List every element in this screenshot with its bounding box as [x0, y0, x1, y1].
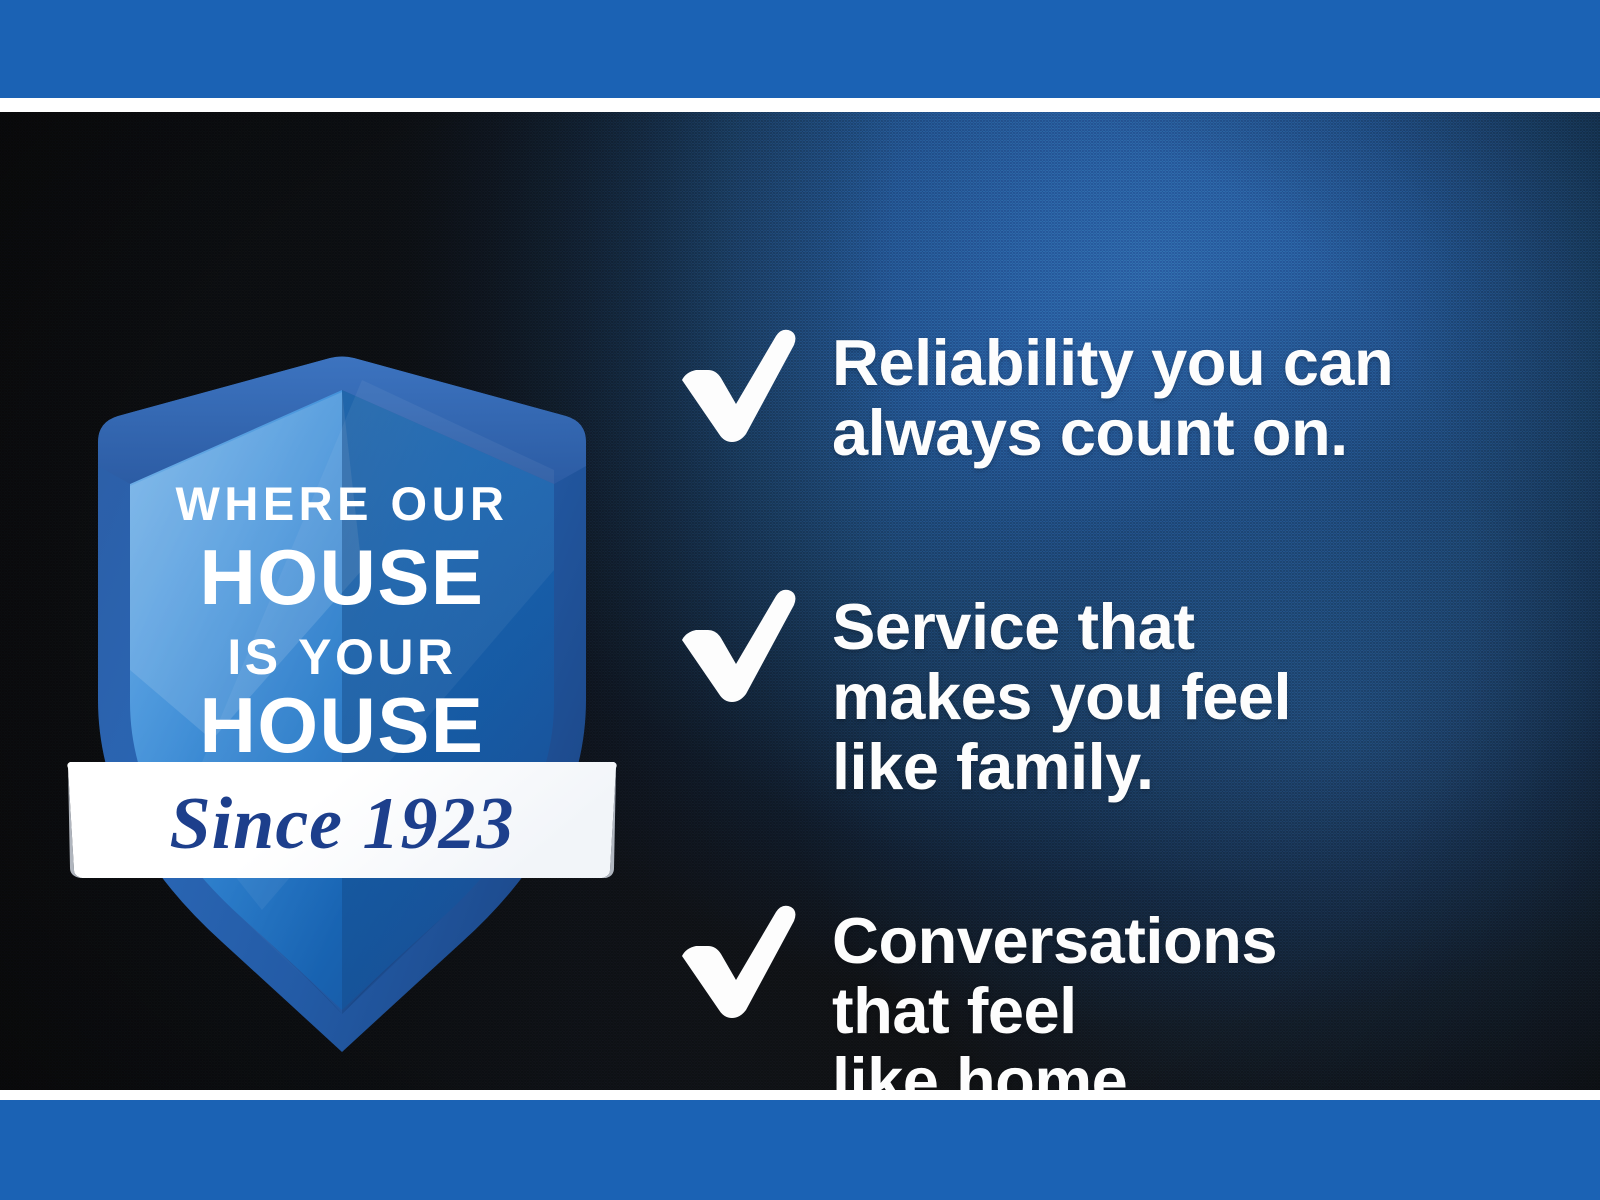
benefits-list: Reliability you can always count on. Ser…	[672, 302, 1552, 1090]
shield-line-3: IS YOUR	[227, 629, 456, 685]
benefit-item: Service that makes you feel like family.	[672, 584, 1291, 803]
benefit-item: Reliability you can always count on.	[672, 324, 1393, 468]
top-brand-bar	[0, 0, 1600, 98]
shield-line-2: HOUSE	[200, 533, 485, 621]
shield-logo-svg: WHERE OUR HOUSE IS YOUR HOUSE Since 1923	[62, 270, 622, 920]
benefit-text: Conversations that feel like home.	[832, 900, 1277, 1090]
benefit-text: Service that makes you feel like family.	[832, 584, 1291, 803]
checkmark-icon	[672, 324, 798, 442]
shield-line-1: WHERE OUR	[176, 477, 509, 530]
since-banner-text: Since 1923	[169, 783, 514, 865]
checkmark-icon	[672, 584, 798, 702]
benefit-text: Reliability you can always count on.	[832, 324, 1393, 468]
checkmark-icon	[672, 900, 798, 1018]
shield-line-4: HOUSE	[200, 681, 485, 769]
since-banner: Since 1923	[67, 762, 616, 878]
shield-logo: WHERE OUR HOUSE IS YOUR HOUSE Since 1923	[62, 270, 622, 920]
promo-graphic: WHERE OUR HOUSE IS YOUR HOUSE Since 1923	[0, 0, 1600, 1200]
content-stage: WHERE OUR HOUSE IS YOUR HOUSE Since 1923	[0, 112, 1600, 1090]
bottom-brand-bar	[0, 1100, 1600, 1200]
benefit-item: Conversations that feel like home.	[672, 900, 1277, 1090]
